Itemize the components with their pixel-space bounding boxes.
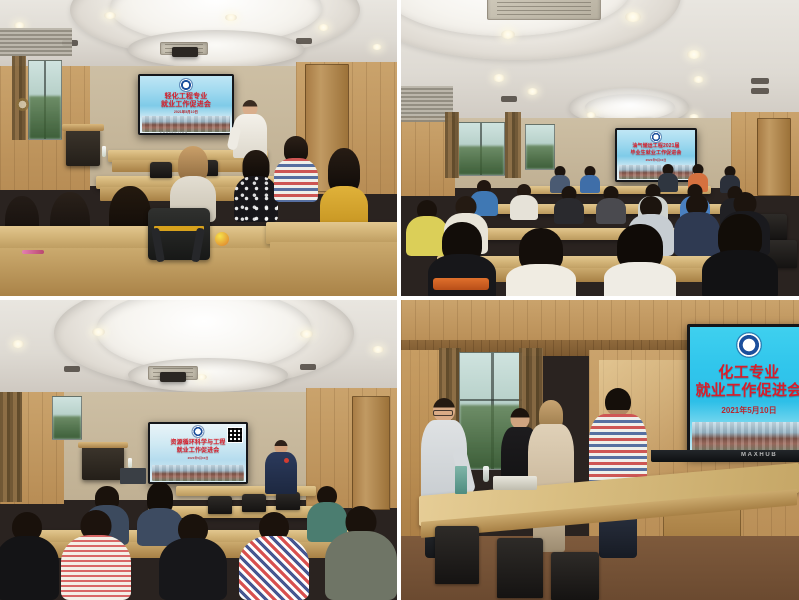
chair-bl-2 xyxy=(242,494,266,512)
meeting-room-scene-br: 化工专业 就业工作促进会 2021年5月10日 MAXHUB xyxy=(401,300,799,600)
audience-bag-tr-fg1 xyxy=(433,278,489,290)
speaker-bl xyxy=(262,440,300,494)
audience-tl-7 xyxy=(318,148,370,232)
downlight-tl-3 xyxy=(225,14,237,21)
audience-body-tr-fg2 xyxy=(506,264,576,296)
slide-title-line1-bl: 资源循环科学与工程 xyxy=(150,440,246,447)
downlight-tr-1 xyxy=(625,12,641,22)
photo-collage: 轻化工程专业 就业工作促进会 2021年5月10日 PROJECTION xyxy=(0,0,799,600)
table-bottle-br xyxy=(483,466,489,482)
standing-head-br-4 xyxy=(605,388,631,416)
classroom-scene-tl: 轻化工程专业 就业工作促进会 2021年5月10日 PROJECTION xyxy=(0,0,397,296)
downlight-bl-1 xyxy=(12,340,24,348)
projector-bl xyxy=(160,372,186,382)
slide-title-line1-tr: 油气储运工程2021届 xyxy=(617,144,695,150)
speaker-body-bl xyxy=(265,452,297,494)
downlight-tr-4 xyxy=(493,74,505,82)
lecture-hall-scene-tr: 油气储运工程2021届 毕业生就业工作促进会 2021年5月10日 xyxy=(401,0,799,296)
audience-bl-fg1 xyxy=(0,512,60,600)
audience-tr-fg3 xyxy=(603,224,677,296)
table-items-br xyxy=(493,476,537,490)
downlight-tl-5 xyxy=(372,44,382,50)
toy-tl xyxy=(215,232,229,246)
led-display-frame-br: 化工专业 就业工作促进会 2021年5月10日 xyxy=(687,324,799,458)
window-tr xyxy=(457,122,505,176)
screen-caption-tl: PROJECTION xyxy=(160,130,188,134)
chair-br-2 xyxy=(497,538,543,598)
led-title-line1-br: 化工专业 xyxy=(690,365,799,382)
downlight-tr-6 xyxy=(693,76,704,83)
wall-emblem-tl xyxy=(16,98,29,111)
ceiling-dome-small-inner-tr xyxy=(585,94,675,120)
downlight-bl-4 xyxy=(372,346,384,353)
downlight-tl-2 xyxy=(104,12,116,19)
university-emblem-tr xyxy=(651,132,661,142)
slide-tr: 油气储运工程2021届 毕业生就业工作促进会 2021年5月10日 xyxy=(617,130,695,180)
chair-bl-1 xyxy=(208,496,232,514)
chair-br-3 xyxy=(551,552,599,600)
audience-bl-fg4 xyxy=(238,512,310,600)
downlight-tr-3 xyxy=(687,50,701,59)
university-emblem-bl xyxy=(193,426,204,437)
audience-bl-fg2 xyxy=(60,510,132,600)
window-curtain-tr-left xyxy=(445,112,459,178)
audience-body-bl-fg1 xyxy=(0,536,59,600)
audience-body-tl-6 xyxy=(274,158,318,202)
audience-body-bl-fg2 xyxy=(61,535,131,600)
collage-panel-bottom-left: 资源循环科学与工程 就业工作促进会 2021年5月10日 xyxy=(0,300,397,600)
audience-bl-fg5 xyxy=(324,506,397,600)
projection-screen-frame-tl: 轻化工程专业 就业工作促进会 2021年5月10日 xyxy=(138,74,234,135)
glasses-br-1 xyxy=(433,410,453,416)
audience-body-tr-m3 xyxy=(554,198,584,224)
slide-date-tr: 2021年5月10日 xyxy=(617,158,695,162)
slide-title-line2-tr: 毕业生就业工作促进会 xyxy=(617,151,695,157)
audience-body-tr-fg3 xyxy=(604,262,676,296)
collage-panel-top-left: 轻化工程专业 就业工作促进会 2021年5月10日 PROJECTION xyxy=(0,0,397,296)
speaker-logo-bl xyxy=(284,458,289,463)
downlight-tr-5 xyxy=(527,88,538,95)
folder-br xyxy=(455,466,467,494)
backpack-strap-tl xyxy=(151,228,165,263)
foreground-desk-tl xyxy=(0,226,280,250)
audience-tr-fg4 xyxy=(701,214,779,296)
audience-tr-m4 xyxy=(595,186,627,224)
audience-body-tr-m4 xyxy=(596,198,626,224)
ceiling-dome-lower-tl xyxy=(128,30,304,68)
window-curtain-tr-right xyxy=(505,112,521,178)
maxhub-brand-br: MAXHUB xyxy=(741,452,777,458)
foreground-desk-front-tl-right xyxy=(270,242,397,296)
window-tl xyxy=(28,60,62,140)
backpack-tl xyxy=(148,208,210,260)
slide-title-line1-tl: 轻化工程专业 xyxy=(140,93,232,101)
ceiling-speaker-tl-2 xyxy=(296,38,312,44)
podium-top-tl xyxy=(62,124,104,131)
downlight-tl-4 xyxy=(318,24,329,31)
standing-person-br-4 xyxy=(587,388,649,558)
university-emblem-br xyxy=(737,333,761,357)
audience-tr-m3 xyxy=(553,186,585,224)
audience-tl-6 xyxy=(272,136,320,206)
podium-top-bl xyxy=(78,442,128,448)
projector-tl xyxy=(172,47,198,57)
podium-bl xyxy=(82,446,124,480)
ceiling-speaker-bl xyxy=(64,366,80,372)
downlight-bl-2 xyxy=(92,328,105,336)
window-bl xyxy=(52,396,82,440)
slide-bl: 资源循环科学与工程 就业工作促进会 2021年5月10日 xyxy=(150,424,246,482)
foreground-desk-tl-right xyxy=(266,222,397,244)
collage-panel-top-right: 油气储运工程2021届 毕业生就业工作促进会 2021年5月10日 xyxy=(401,0,799,296)
led-date-br: 2021年5月10日 xyxy=(690,405,799,416)
window-foliage-bl xyxy=(53,416,81,439)
downlight-tr-2 xyxy=(501,30,515,39)
collage-panel-bottom-right: 化工专业 就业工作促进会 2021年5月10日 MAXHUB xyxy=(401,300,799,600)
slide-title-line2-bl: 就业工作促进会 xyxy=(150,448,246,455)
audience-tr-fg1 xyxy=(427,222,497,296)
audience-body-bl-fg3 xyxy=(159,538,227,600)
window-foliage-tl xyxy=(29,96,61,139)
audience-body-tr-fg4 xyxy=(702,250,778,296)
chair-br-1 xyxy=(435,526,479,584)
projection-screen-frame-tr: 油气储运工程2021届 毕业生就业工作促进会 2021年5月10日 xyxy=(615,128,697,182)
door-bl xyxy=(352,396,390,510)
audience-body-tr-m2 xyxy=(510,195,538,220)
led-title-line2-br: 就业工作促进会 xyxy=(690,383,799,400)
audience-tr-m2 xyxy=(509,184,539,220)
audience-tr-fg2 xyxy=(505,228,577,296)
classroom-scene-bl: 资源循环科学与工程 就业工作促进会 2021年5月10日 xyxy=(0,300,397,600)
window-blinds-tl xyxy=(0,28,72,56)
water-bottle-bl xyxy=(128,458,132,468)
audience-body-bl-fg5 xyxy=(325,531,397,600)
slide-date-bl: 2021年5月10日 xyxy=(150,456,246,460)
projection-screen-frame-bl: 资源循环科学与工程 就业工作促进会 2021年5月10日 xyxy=(148,422,248,484)
slide-photo-strip-tr xyxy=(619,165,694,179)
ceiling-speaker-tr-3 xyxy=(751,88,769,94)
ceiling-speaker-bl-2 xyxy=(300,364,316,370)
water-bottle-tl xyxy=(102,146,106,157)
podium-tl xyxy=(66,128,100,166)
audience-body-bl-fg4 xyxy=(239,536,309,600)
university-emblem-tl xyxy=(180,79,192,91)
led-display-slide-br: 化工专业 就业工作促进会 2021年5月10日 xyxy=(690,327,799,455)
downlight-bl-3 xyxy=(300,330,313,338)
slide-date-tl: 2021年5月10日 xyxy=(140,110,232,115)
chair-bl-3 xyxy=(276,492,300,510)
slide-tl: 轻化工程专业 就业工作促进会 2021年5月10日 xyxy=(140,76,232,133)
ac-vent-tr xyxy=(487,0,601,20)
window-curtain-bl xyxy=(0,392,22,502)
pen-tl xyxy=(22,250,44,254)
window-foliage-tr xyxy=(458,146,504,175)
window-tr-2 xyxy=(525,124,555,170)
led-photo-strip-br xyxy=(692,422,799,453)
ceiling-speaker-tr-2 xyxy=(751,78,769,84)
slide-photo-strip-bl xyxy=(152,465,244,481)
door-tr xyxy=(757,118,791,196)
backpack-strap-tl-2 xyxy=(191,228,205,263)
ceiling-speaker-tr-1 xyxy=(501,96,517,102)
slide-title-line2-tl: 就业工作促进会 xyxy=(140,101,232,109)
foreground-desk-front-tl xyxy=(0,248,276,296)
audience-bl-fg3 xyxy=(158,514,228,600)
